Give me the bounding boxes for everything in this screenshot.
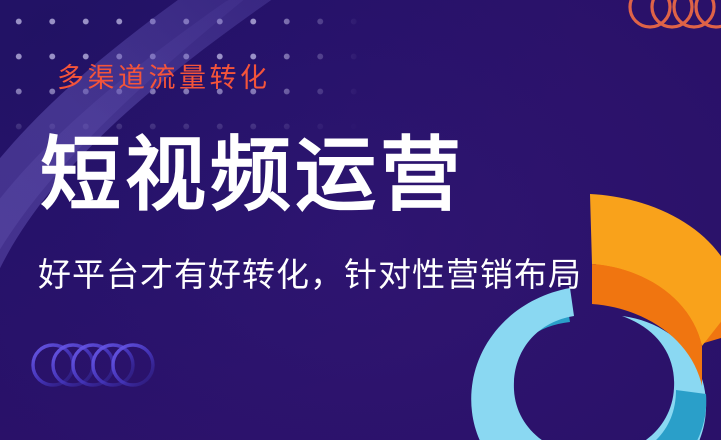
subline-text: 好平台才有好转化，针对性营销布局 <box>38 260 582 293</box>
text-block: 多渠道流量转化 短视频运营 好平台才有好转化，针对性营销布局 <box>0 0 640 440</box>
kicker-text: 多渠道流量转化 <box>57 65 271 92</box>
ring-tr-3-icon <box>674 0 714 27</box>
ring-cluster-top-right <box>628 0 721 43</box>
promo-banner: 多渠道流量转化 短视频运营 好平台才有好转化，针对性营销布局 <box>0 0 721 440</box>
ring-tr-2-icon <box>652 0 692 27</box>
headline-text: 短视频运营 <box>40 136 465 217</box>
